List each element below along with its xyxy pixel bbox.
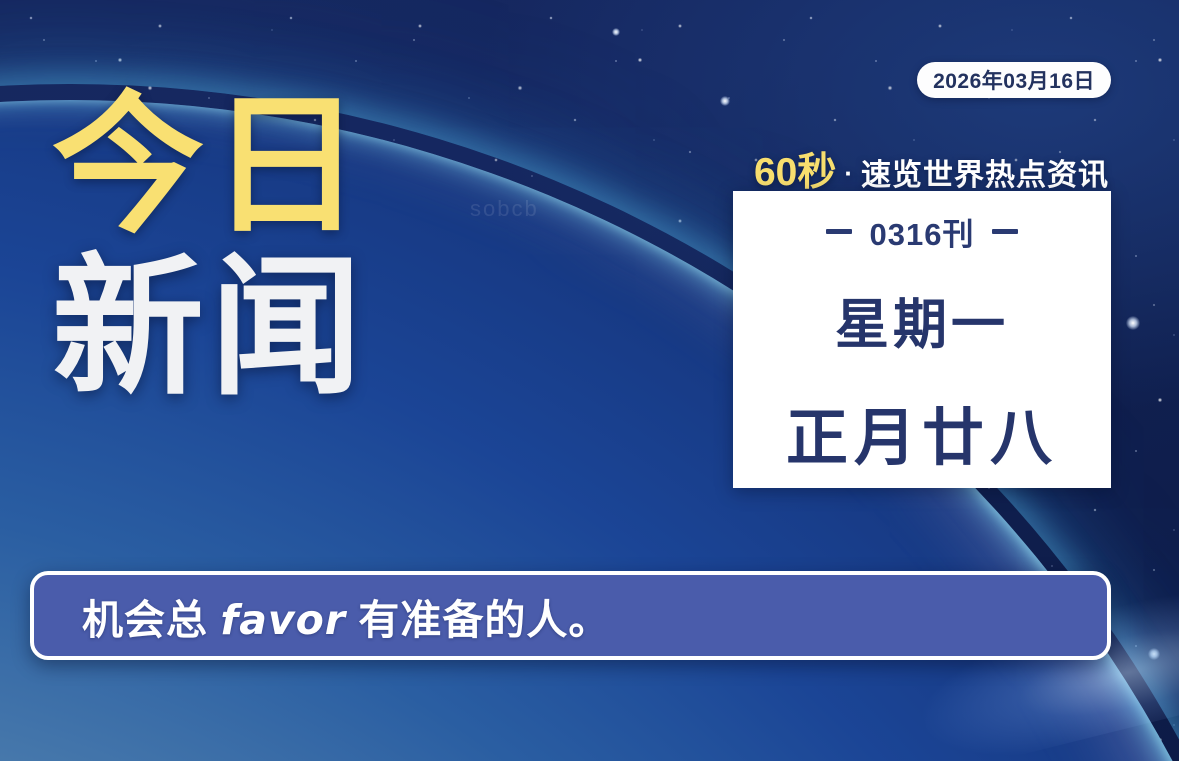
quote-emphasis: favor [220,596,346,644]
tagline-label: 速览世界热点资讯 [861,150,1109,194]
issue-info-card: 0316刊 星期一 正月廿八 [733,191,1111,488]
page-title: 今日 新闻 [52,96,368,398]
quote-bar: 机会总 favor 有准备的人。 [30,571,1111,660]
quote-suffix: 有准备的人。 [346,597,610,643]
news-poster: sobcb 今日 新闻 2026年03月16日 60秒 · 速览世界热点资讯 0… [0,0,1179,761]
quote-text: 机会总 favor 有准备的人。 [82,586,610,646]
issue-line: 0316刊 [826,209,1019,254]
quote-prefix: 机会总 [82,597,220,643]
issue-dash-left-icon [826,229,852,234]
headline-line-news: 新闻 [52,258,368,398]
issue-number: 0316刊 [870,209,975,254]
date-badge: 2026年03月16日 [917,62,1111,98]
tagline-duration: 60秒 [754,141,836,197]
lunar-date-label: 正月廿八 [786,387,1058,477]
tagline-separator-icon: · [840,158,857,189]
watermark-text: sobcb [470,196,539,222]
issue-dash-right-icon [992,229,1018,234]
tagline: 60秒 · 速览世界热点资讯 [754,141,1109,197]
poster-content: sobcb 今日 新闻 2026年03月16日 60秒 · 速览世界热点资讯 0… [0,0,1179,761]
weekday-label: 星期一 [835,280,1009,359]
date-badge-label: 2026年03月16日 [933,65,1095,95]
headline-line-today: 今日 [52,96,368,236]
